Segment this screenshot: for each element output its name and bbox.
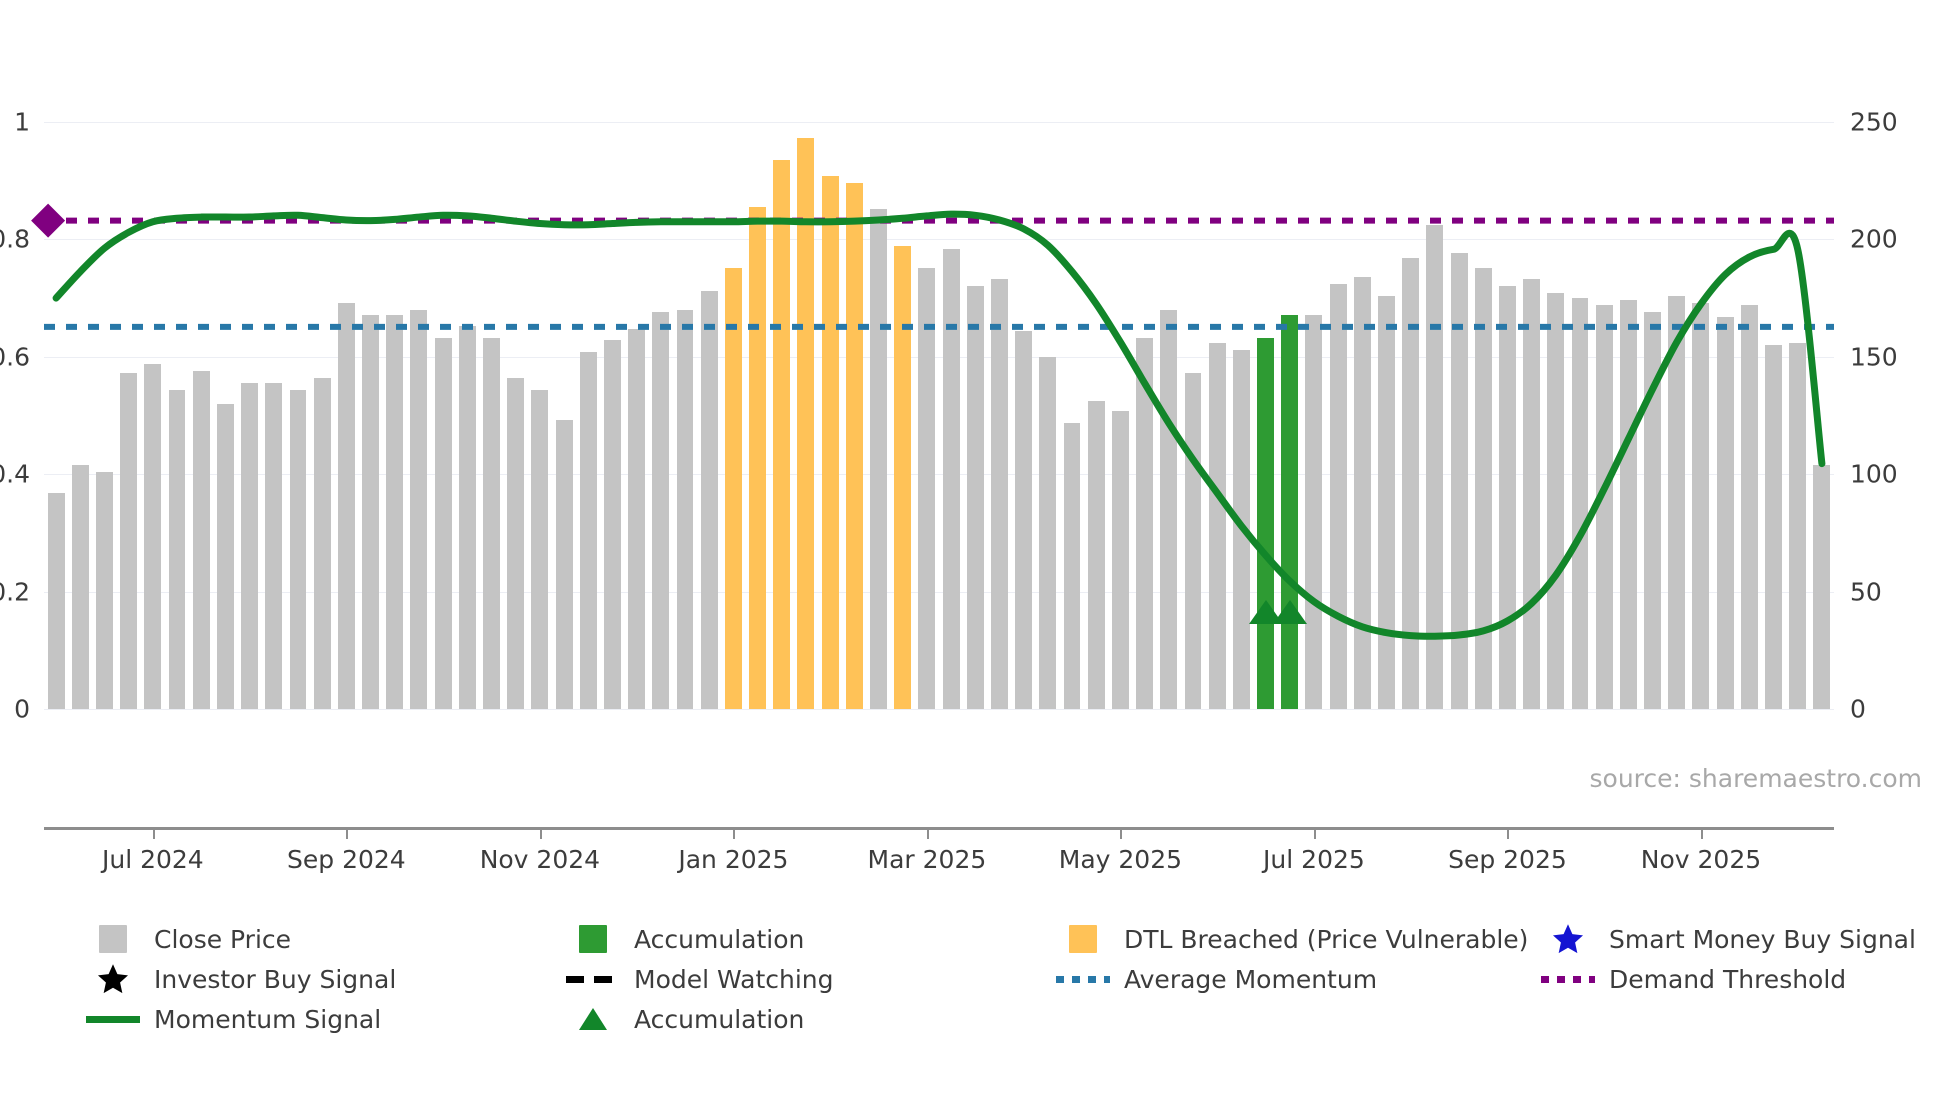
legend-accumulation-marker[interactable]: Accumulation bbox=[566, 1000, 804, 1038]
legend-item-label: Demand Threshold bbox=[1609, 965, 1846, 994]
legend-item-label: Average Momentum bbox=[1124, 965, 1377, 994]
legend-demand-threshold[interactable]: Demand Threshold bbox=[1541, 960, 1846, 998]
x-axis-tick-label: Sep 2024 bbox=[287, 845, 406, 874]
legend-item-label: Close Price bbox=[154, 925, 291, 954]
legend-item-label: Accumulation bbox=[634, 925, 804, 954]
x-axis-tick bbox=[540, 827, 542, 839]
legend-item-label: Accumulation bbox=[634, 1005, 804, 1034]
x-axis-tick-label: Nov 2024 bbox=[480, 845, 600, 874]
x-axis-tick bbox=[733, 827, 735, 839]
x-axis-tick bbox=[927, 827, 929, 839]
legend-item-label: Smart Money Buy Signal bbox=[1609, 925, 1916, 954]
legend-average-momentum[interactable]: Average Momentum bbox=[1056, 960, 1377, 998]
x-axis-tick bbox=[1701, 827, 1703, 839]
legend-momentum-signal[interactable]: Momentum Signal bbox=[86, 1000, 381, 1038]
triangle-icon bbox=[577, 1005, 609, 1033]
star-icon bbox=[1551, 922, 1585, 956]
x-axis-tick bbox=[1314, 827, 1316, 839]
legend-model-watching[interactable]: Model Watching bbox=[566, 960, 834, 998]
legend-row: Momentum SignalAccumulation bbox=[86, 1000, 1936, 1031]
legend-item-label: DTL Breached (Price Vulnerable) bbox=[1124, 925, 1528, 954]
x-axis-tick-label: Jul 2024 bbox=[102, 845, 204, 874]
x-axis-tick-label: May 2025 bbox=[1059, 845, 1182, 874]
legend-investor-buy[interactable]: Investor Buy Signal bbox=[86, 960, 396, 998]
star-icon bbox=[96, 962, 130, 996]
legend-item-label: Investor Buy Signal bbox=[154, 965, 396, 994]
legend-row: Investor Buy SignalModel WatchingAverage… bbox=[86, 960, 1936, 991]
legend-dashed-line-icon bbox=[566, 976, 620, 983]
legend-item-label: Momentum Signal bbox=[154, 1005, 381, 1034]
legend-swatch-holder bbox=[566, 925, 620, 953]
x-axis-tick bbox=[1507, 827, 1509, 839]
legend-swatch-holder bbox=[566, 1005, 620, 1033]
x-axis-tick-label: Jul 2025 bbox=[1263, 845, 1365, 874]
legend-dtl-breached[interactable]: DTL Breached (Price Vulnerable) bbox=[1056, 920, 1528, 958]
legend: Close PriceAccumulationDTL Breached (Pri… bbox=[86, 920, 1936, 1040]
x-axis-tick-label: Mar 2025 bbox=[868, 845, 987, 874]
legend-square-icon bbox=[579, 925, 607, 953]
legend-swatch-holder bbox=[86, 925, 140, 953]
momentum-close-price-chart: 00.20.40.60.81 050100150200250 Jul 2024S… bbox=[0, 0, 1960, 1102]
legend-square-icon bbox=[1069, 925, 1097, 953]
legend-swatch-holder bbox=[1541, 922, 1595, 956]
legend-item-label: Model Watching bbox=[634, 965, 834, 994]
source-note: source: sharemaestro.com bbox=[1590, 764, 1923, 793]
legend-swatch-holder bbox=[1056, 925, 1110, 953]
legend-close-price[interactable]: Close Price bbox=[86, 920, 291, 958]
legend-row: Close PriceAccumulationDTL Breached (Pri… bbox=[86, 920, 1936, 951]
legend-square-icon bbox=[99, 925, 127, 953]
x-axis-tick-label: Sep 2025 bbox=[1448, 845, 1567, 874]
x-axis-tick bbox=[1120, 827, 1122, 839]
x-axis-tick bbox=[153, 827, 155, 839]
legend-accumulation-bar[interactable]: Accumulation bbox=[566, 920, 804, 958]
x-axis-tick-label: Jan 2025 bbox=[678, 845, 788, 874]
legend-dotted-line-icon bbox=[1541, 976, 1595, 983]
legend-line-icon bbox=[86, 1016, 140, 1023]
legend-swatch-holder bbox=[86, 962, 140, 996]
legend-dotted-line-icon bbox=[1056, 976, 1110, 983]
legend-smart-money[interactable]: Smart Money Buy Signal bbox=[1541, 920, 1916, 958]
x-axis-tick-label: Nov 2025 bbox=[1641, 845, 1761, 874]
x-axis-tick bbox=[346, 827, 348, 839]
